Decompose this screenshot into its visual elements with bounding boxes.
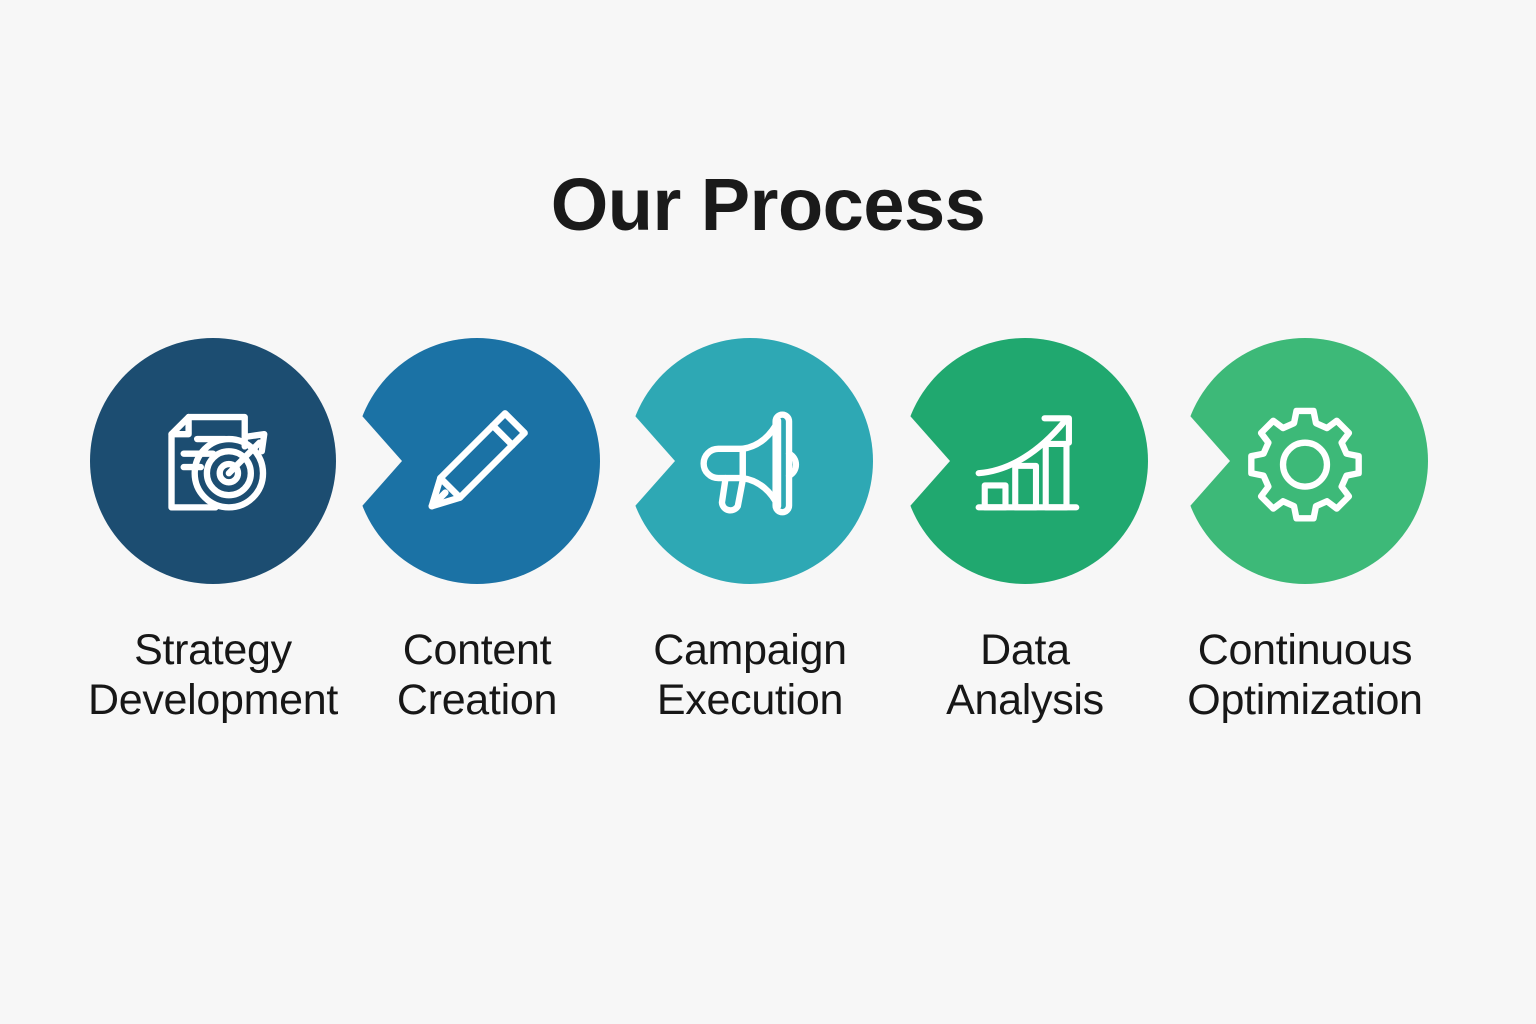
step-circle — [1182, 338, 1428, 584]
step-circle — [627, 338, 873, 584]
step-label-line-1: Content — [347, 626, 607, 676]
process-flow-diagram: Strategy Development — [0, 338, 1536, 758]
step-label-line-2: Analysis — [895, 676, 1155, 726]
process-step-strategy-development[interactable]: Strategy Development — [83, 338, 343, 758]
process-step-content-creation[interactable]: Content Creation — [347, 338, 607, 758]
step-circle — [354, 338, 600, 584]
step-label-line-1: Strategy — [83, 626, 343, 676]
step-label: Continuous Optimization — [1175, 626, 1435, 726]
step-label-line-1: Data — [895, 626, 1155, 676]
process-step-continuous-optimization[interactable]: Continuous Optimization — [1175, 338, 1435, 758]
gear-icon — [1182, 338, 1428, 584]
step-label: Campaign Execution — [620, 626, 880, 726]
growth-chart-icon — [902, 338, 1148, 584]
step-label-line-1: Campaign — [620, 626, 880, 676]
step-label-line-2: Creation — [347, 676, 607, 726]
document-target-icon — [90, 338, 336, 584]
megaphone-icon — [627, 338, 873, 584]
step-circle — [90, 338, 336, 584]
step-label: Strategy Development — [83, 626, 343, 726]
process-step-campaign-execution[interactable]: Campaign Execution — [620, 338, 880, 758]
step-label-line-2: Execution — [620, 676, 880, 726]
step-label: Data Analysis — [895, 626, 1155, 726]
step-label-line-2: Development — [83, 676, 343, 726]
pencil-icon — [354, 338, 600, 584]
step-label-line-1: Continuous — [1175, 626, 1435, 676]
step-circle — [902, 338, 1148, 584]
page-title: Our Process — [0, 168, 1536, 242]
step-label-line-2: Optimization — [1175, 676, 1435, 726]
step-label: Content Creation — [347, 626, 607, 726]
process-step-data-analysis[interactable]: Data Analysis — [895, 338, 1155, 758]
